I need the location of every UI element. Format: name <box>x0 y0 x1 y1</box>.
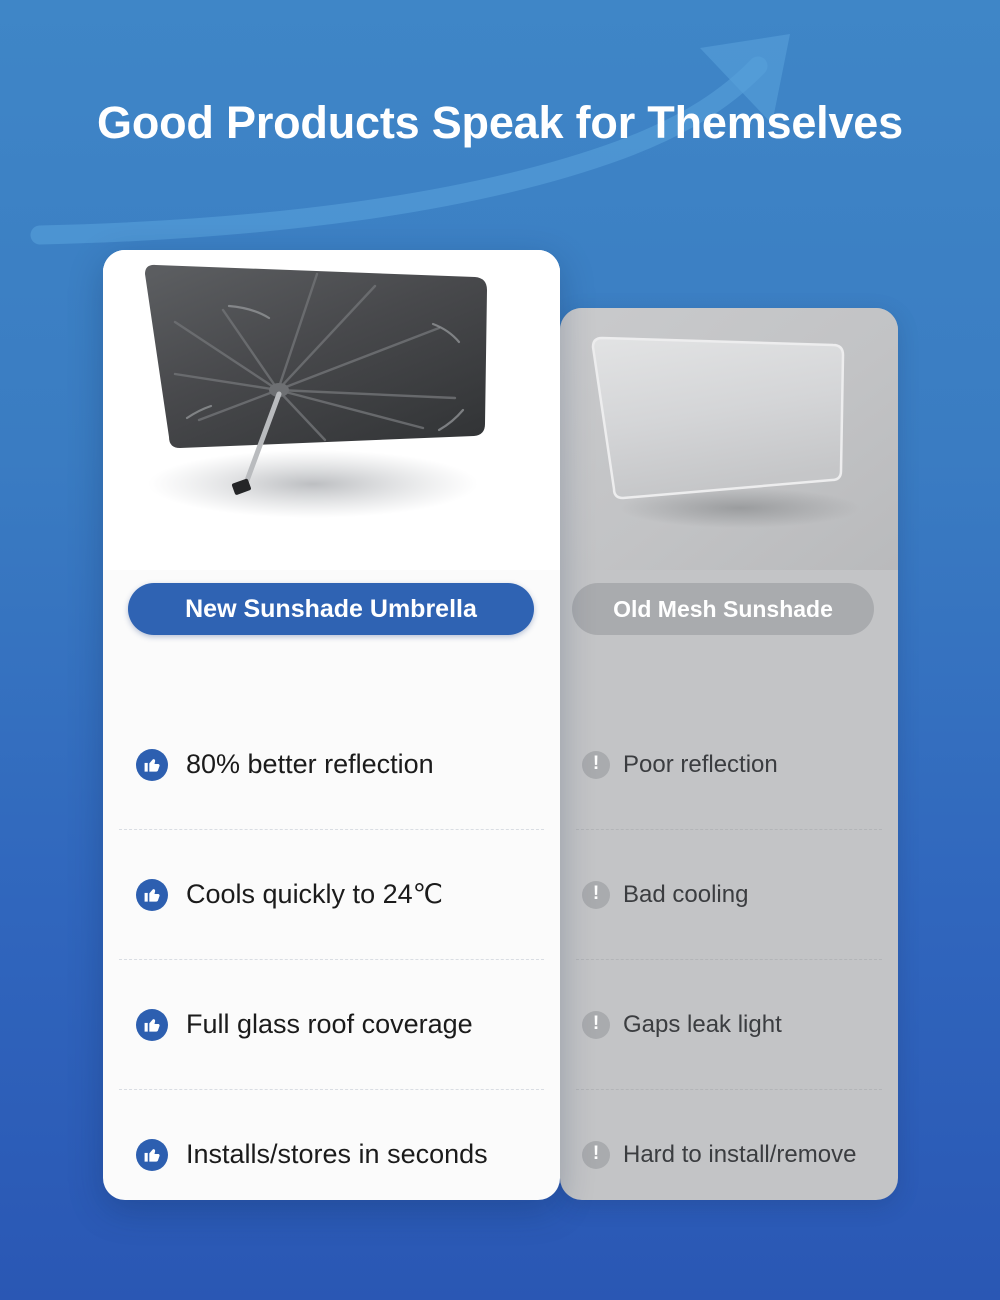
old-feature-list: ! Poor reflection ! Bad cooling ! Gaps l… <box>560 700 898 1219</box>
old-feature-label-4: Hard to install/remove <box>623 1141 856 1169</box>
old-product-image <box>560 308 898 570</box>
exclamation-icon: ! <box>582 751 610 779</box>
thumbs-up-icon <box>136 879 168 911</box>
old-feature-row-2: ! Bad cooling <box>560 830 898 959</box>
new-feature-label-3: Full glass roof coverage <box>186 1009 473 1040</box>
new-product-image <box>103 250 560 570</box>
exclamation-icon: ! <box>582 1141 610 1169</box>
thumbs-up-icon <box>136 1139 168 1171</box>
new-product-badge-label: New Sunshade Umbrella <box>185 595 477 624</box>
new-product-badge: New Sunshade Umbrella <box>128 583 534 635</box>
old-feature-label-3: Gaps leak light <box>623 1011 782 1039</box>
new-feature-row-3: Full glass roof coverage <box>103 960 560 1089</box>
mesh-sunshade-illustration <box>560 308 898 570</box>
new-feature-label-4: Installs/stores in seconds <box>186 1139 488 1170</box>
new-feature-label-2: Cools quickly to 24℃ <box>186 879 443 910</box>
umbrella-sunshade-illustration <box>103 250 560 570</box>
old-feature-row-3: ! Gaps leak light <box>560 960 898 1089</box>
old-product-badge: Old Mesh Sunshade <box>572 583 874 635</box>
exclamation-icon: ! <box>582 1011 610 1039</box>
new-feature-list: 80% better reflection Cools quickly to 2… <box>103 700 560 1219</box>
new-feature-row-4: Installs/stores in seconds <box>103 1090 560 1219</box>
new-feature-label-1: 80% better reflection <box>186 749 434 780</box>
old-product-badge-label: Old Mesh Sunshade <box>613 596 833 623</box>
thumbs-up-icon <box>136 749 168 781</box>
old-product-card: Old Mesh Sunshade ! Poor reflection ! Ba… <box>560 308 898 1200</box>
new-feature-row-1: 80% better reflection <box>103 700 560 829</box>
new-product-card: New Sunshade Umbrella 80% better reflect… <box>103 250 560 1200</box>
thumbs-up-icon <box>136 1009 168 1041</box>
new-feature-row-2: Cools quickly to 24℃ <box>103 830 560 959</box>
comparison-section: Old Mesh Sunshade ! Poor reflection ! Ba… <box>0 0 1000 1300</box>
old-feature-label-2: Bad cooling <box>623 881 748 909</box>
old-feature-row-4: ! Hard to install/remove <box>560 1090 898 1219</box>
exclamation-icon: ! <box>582 881 610 909</box>
old-feature-label-1: Poor reflection <box>623 751 778 779</box>
old-feature-row-1: ! Poor reflection <box>560 700 898 829</box>
